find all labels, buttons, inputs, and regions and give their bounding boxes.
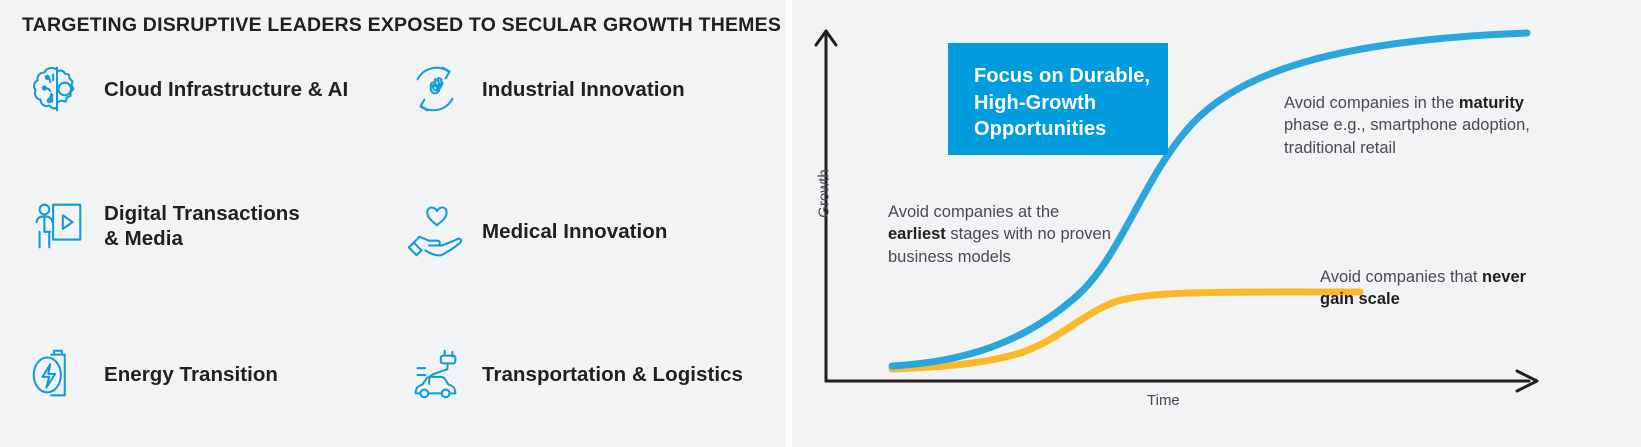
y-axis-label: Growth [816, 154, 833, 234]
callout-line-2: High-Growth [974, 90, 1168, 117]
theme-label: Transportation & Logistics [482, 362, 743, 387]
heart-in-hand-icon [404, 200, 466, 262]
annotation-earliest-stage: Avoid companies at the earliest stages w… [888, 201, 1118, 268]
brain-gear-icon [26, 58, 88, 120]
callout-line-1: Focus on Durable, [974, 63, 1168, 90]
annotation-post: phase e.g., smartphone adoption, traditi… [1284, 116, 1530, 156]
annotation-maturity-phase: Avoid companies in the maturity phase e.… [1284, 92, 1544, 159]
x-axis-label: Time [1147, 392, 1180, 409]
callout-line-3: Opportunities [974, 116, 1168, 143]
theme-label: Energy Transition [104, 362, 278, 387]
annotation-never-gain-scale: Avoid companies that never gain scale [1320, 266, 1540, 311]
slide-root: TARGETING DISRUPTIVE LEADERS EXPOSED TO … [0, 0, 1641, 447]
theme-item-cloud-infrastructure-ai[interactable]: Cloud Infrastructure & AI [26, 58, 348, 120]
growth-curve-chart: Growth Time Focus on Durable, High-Growt… [792, 0, 1641, 447]
person-media-screen-icon [26, 195, 88, 257]
electric-car-plug-icon [404, 343, 466, 405]
annotation-bold: maturity [1459, 94, 1524, 112]
theme-label-text: Digital Transactions & Media [104, 202, 300, 250]
theme-item-transportation-logistics[interactable]: Transportation & Logistics [404, 343, 743, 405]
gear-refresh-icon [404, 58, 466, 120]
annotation-pre: Avoid companies at the [888, 203, 1059, 221]
theme-item-industrial-innovation[interactable]: Industrial Innovation [404, 58, 685, 120]
growth-curve-panel: Growth Time Focus on Durable, High-Growt… [792, 0, 1641, 447]
battery-bolt-icon [26, 343, 88, 405]
theme-item-energy-transition[interactable]: Energy Transition [26, 343, 278, 405]
callout-focus-box: Focus on Durable, High-Growth Opportunit… [948, 43, 1168, 155]
annotation-pre: Avoid companies that [1320, 268, 1482, 286]
theme-label: Medical Innovation [482, 219, 667, 244]
theme-item-medical-innovation[interactable]: Medical Innovation [404, 200, 667, 262]
themes-panel: TARGETING DISRUPTIVE LEADERS EXPOSED TO … [0, 0, 786, 447]
theme-label: Digital Transactions & Media [104, 201, 300, 251]
annotation-bold: earliest [888, 225, 946, 243]
annotation-pre: Avoid companies in the [1284, 94, 1459, 112]
theme-item-digital-transactions-media[interactable]: Digital Transactions & Media [26, 195, 300, 257]
page-title: TARGETING DISRUPTIVE LEADERS EXPOSED TO … [22, 14, 781, 37]
theme-label: Industrial Innovation [482, 77, 685, 102]
x-axis [826, 371, 1537, 391]
theme-label: Cloud Infrastructure & AI [104, 77, 348, 102]
